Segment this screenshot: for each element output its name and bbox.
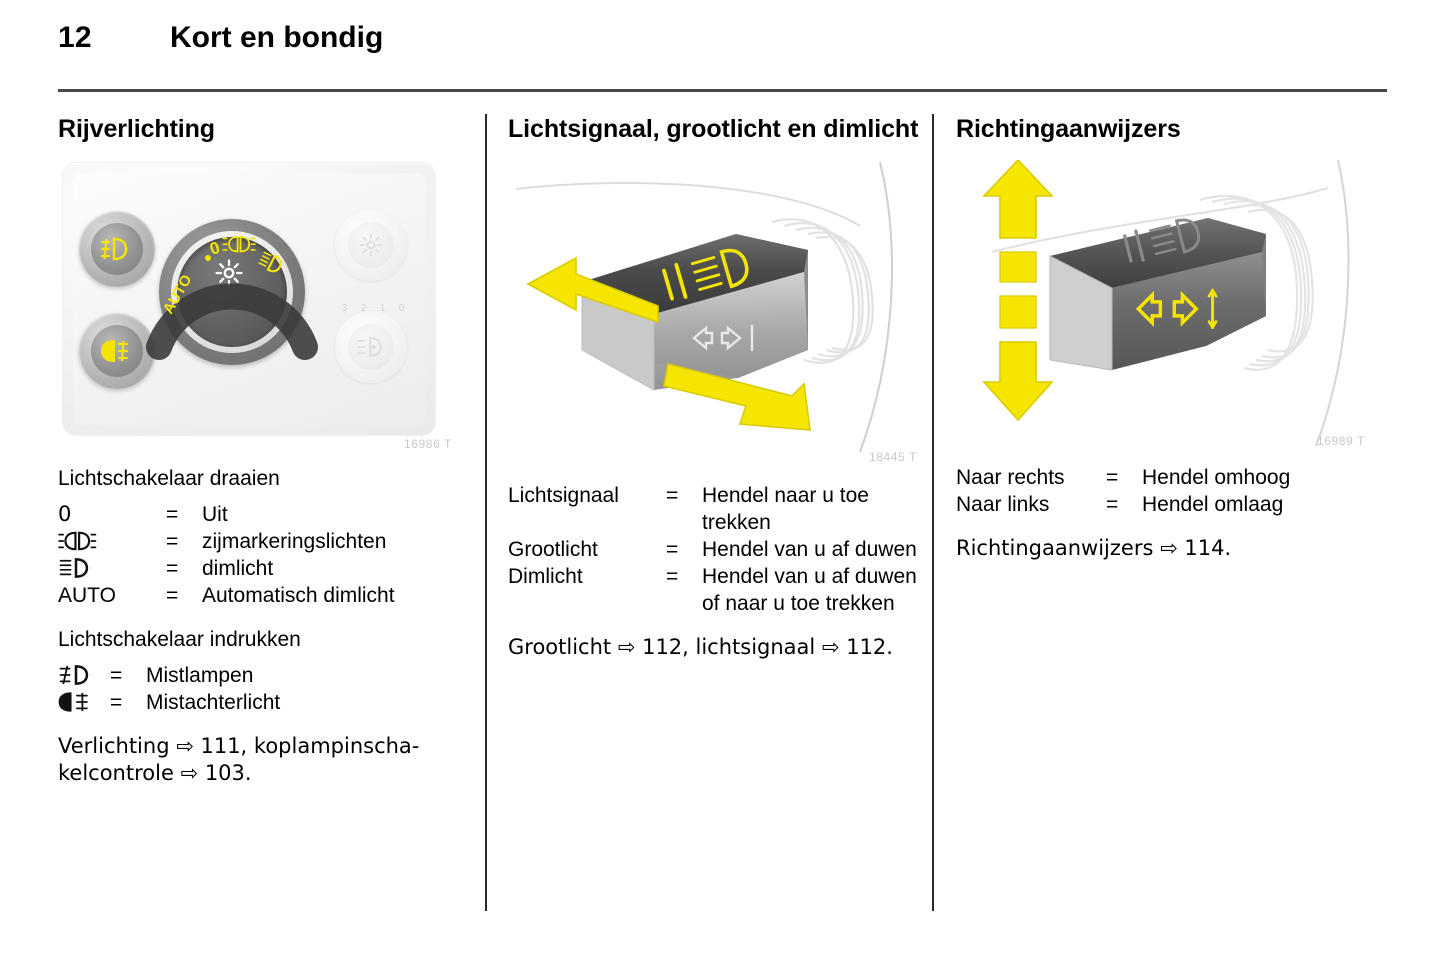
header-divider-rule (58, 89, 1387, 92)
list-item: 0 = Uit (58, 501, 486, 528)
definition-value: zijmarkeringslichten (202, 528, 486, 555)
definition-value: Hendel omhoog (1142, 464, 1384, 491)
definition-key: Naar links (956, 491, 1106, 518)
headlight-range-cap (348, 324, 394, 370)
definition-value: Hendel van u af duwen of naar u toe trek… (702, 563, 936, 617)
equals-sign: = (166, 582, 202, 609)
arrow-up-icon (984, 160, 1052, 238)
definition-value: dimlicht (202, 555, 486, 582)
light-stalk-illustration (508, 154, 923, 466)
section-title-lichtsignaal: Lichtsignaal, grootlicht en dimlicht (508, 100, 936, 144)
three-column-body: Rijverlichting (0, 100, 1445, 920)
definition-value: Automatisch dimlicht (202, 582, 486, 609)
definition-value: Hendel naar u toe trekken (702, 482, 936, 536)
equals-sign: = (166, 501, 202, 528)
figure-caption: 16989 T (1317, 434, 1365, 448)
figure-caption: 18445 T (869, 450, 917, 464)
headlight-range-adjust-button[interactable] (335, 311, 407, 383)
equals-sign: = (1106, 464, 1142, 491)
rear-fog-lamp-icon (58, 692, 94, 712)
figure-caption: 16986 T (404, 437, 452, 451)
instrument-dimmer-cap (348, 222, 394, 268)
chapter-title: Kort en bondig (170, 20, 383, 56)
light-switch-panel-body: AUTO 0 (62, 162, 436, 436)
front-fog-lamp-icon (58, 665, 94, 685)
definition-key: Grootlicht (508, 536, 666, 563)
equals-sign: = (666, 563, 702, 617)
equals-sign: = (1106, 491, 1142, 518)
arrow-motion-dashes (1000, 252, 1036, 328)
page-number: 12 (58, 20, 170, 56)
list-item: Dimlicht = Hendel van u af duwen of naar… (508, 563, 936, 617)
low-beam-icon (58, 558, 94, 578)
definition-value: Mistlampen (146, 662, 486, 689)
equals-sign: = (166, 555, 202, 582)
front-fog-lamp-icon (100, 237, 134, 261)
section-title-rijverlichting: Rijverlichting (58, 100, 486, 144)
instrument-dimmer-button[interactable] (335, 209, 407, 281)
definition-list-richtingaanwijzers: Naar rechts = Hendel omhoog Naar links =… (956, 464, 1384, 518)
definition-list-lichtsignaal: Lichtsignaal = Hendel naar u toe trekken… (508, 482, 936, 617)
equals-sign: = (666, 536, 702, 563)
definition-key: Lichtsignaal (508, 482, 666, 536)
list-item: = dimlicht (58, 555, 486, 582)
rear-fog-lamp-icon (100, 339, 134, 363)
list-item: Lichtsignaal = Hendel naar u toe trekken (508, 482, 936, 536)
turn-signal-stalk-illustration (956, 160, 1371, 450)
figure-turn-signal-stalk: 16989 T (956, 160, 1371, 450)
equals-sign: = (110, 689, 146, 716)
headlight-range-icon (356, 337, 386, 357)
column-lichtsignaal: Lichtsignaal, grootlicht en dimlicht (508, 100, 936, 661)
column-rijverlichting: Rijverlichting (58, 100, 486, 787)
section-title-richtingaanwijzers: Richtingaanwijzers (956, 100, 1384, 144)
cross-reference-grootlicht: Grootlicht ⇨ 112, lichtsignaal ⇨ 112. (508, 634, 936, 661)
symbol-off: 0 (58, 502, 71, 526)
rear-fog-lamp-button-cap (91, 325, 143, 377)
cross-reference-verlichting: Verlichting ⇨ 111, koplampinscha- kelcon… (58, 733, 486, 787)
list-item: = Mistachterlicht (58, 689, 486, 716)
definition-value: Mistachterlicht (146, 689, 486, 716)
symbol-auto: AUTO (58, 582, 166, 609)
subheading-lichtschakelaar-draaien: Lichtschakelaar draaien (58, 465, 486, 492)
knob-dial-legend: AUTO 0 (137, 197, 327, 387)
figure-light-switch-panel: AUTO 0 (58, 160, 458, 453)
definition-value: Hendel omlaag (1142, 491, 1384, 518)
equals-sign: = (166, 528, 202, 555)
side-marker-light-icon (223, 237, 255, 251)
definition-value: Uit (202, 501, 486, 528)
dial-label-zero: 0 (207, 238, 222, 259)
range-number-0: 0 (399, 303, 405, 323)
subheading-lichtschakelaar-indrukken: Lichtschakelaar indrukken (58, 626, 486, 653)
figure-light-stalk-push-pull: 18445 T (508, 154, 923, 466)
list-item: = Mistlampen (58, 662, 486, 689)
list-item: Naar links = Hendel omlaag (956, 491, 1384, 518)
list-item: Grootlicht = Hendel van u af duwen (508, 536, 936, 563)
front-fog-lamp-button-cap (91, 223, 143, 275)
equals-sign: = (666, 482, 702, 536)
definition-list-rotary: 0 = Uit = zijmarkeringslichten (58, 501, 486, 609)
list-item: = zijmarkeringslichten (58, 528, 486, 555)
instrument-dimmer-icon (359, 233, 383, 257)
arrow-down-icon (984, 342, 1052, 420)
definition-key: Naar rechts (956, 464, 1106, 491)
low-beam-icon (258, 251, 283, 274)
cross-reference-line-2: kelcontrole ⇨ 103. (58, 761, 252, 785)
definition-key: Dimlicht (508, 563, 666, 617)
list-item: Naar rechts = Hendel omhoog (956, 464, 1384, 491)
page-header: 12 Kort en bondig (58, 20, 1388, 70)
equals-sign: = (110, 662, 146, 689)
column-richtingaanwijzers: Richtingaanwijzers (956, 100, 1384, 562)
cross-reference-line-1: Verlichting ⇨ 111, koplampinscha- (58, 734, 419, 758)
cross-reference-richtingaanwijzers: Richtingaanwijzers ⇨ 114. (956, 535, 1384, 562)
definition-list-press: = Mistlampen = Mistachterlicht (58, 662, 486, 716)
definition-value: Hendel van u af duwen (702, 536, 936, 563)
side-marker-light-icon (58, 531, 102, 551)
list-item: AUTO = Automatisch dimlicht (58, 582, 486, 609)
